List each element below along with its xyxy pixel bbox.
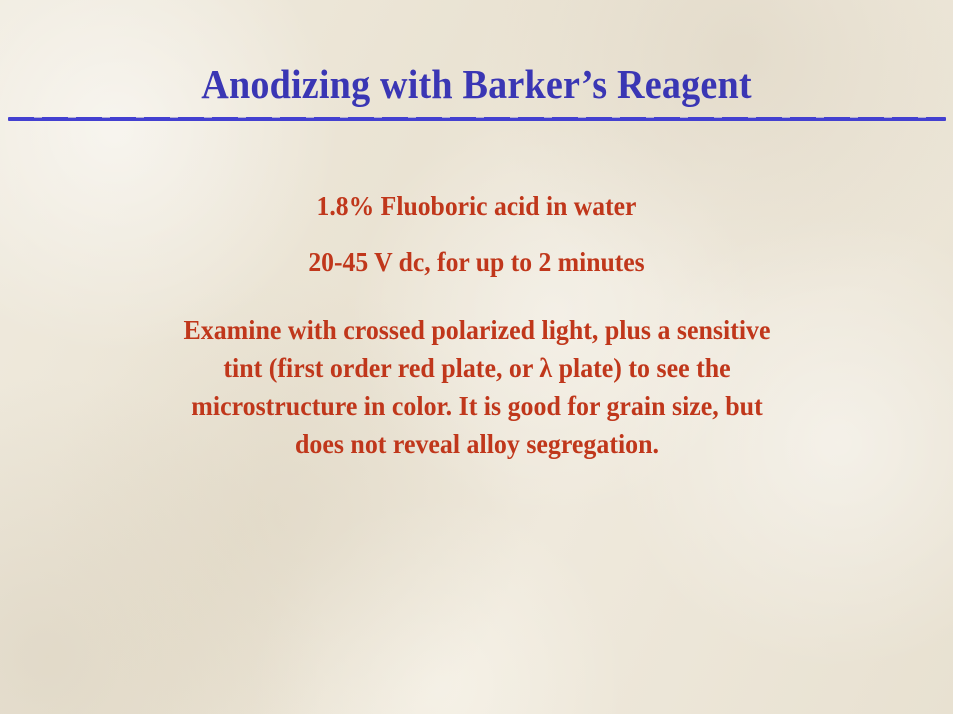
slide-canvas: Anodizing with Barker’s Reagent 1.8% Flu… (0, 0, 953, 714)
title-divider-rule (8, 117, 946, 121)
paragraph-line-1: Examine with crossed polarized light, pl… (121, 311, 831, 349)
paragraph-line-4: does not reveal alloy segregation. (121, 425, 831, 463)
body-line-concentration: 1.8% Fluoboric acid in water (24, 190, 929, 222)
body-paragraph: Examine with crossed polarized light, pl… (121, 311, 831, 463)
paragraph-line-3: microstructure in color. It is good for … (121, 387, 831, 425)
body-line-voltage: 20-45 V dc, for up to 2 minutes (24, 246, 929, 278)
slide-body: 1.8% Fluoboric acid in water 20-45 V dc,… (0, 190, 953, 463)
paragraph-line-2: tint (first order red plate, or λ plate)… (121, 349, 831, 387)
slide-title: Anodizing with Barker’s Reagent (33, 60, 919, 108)
